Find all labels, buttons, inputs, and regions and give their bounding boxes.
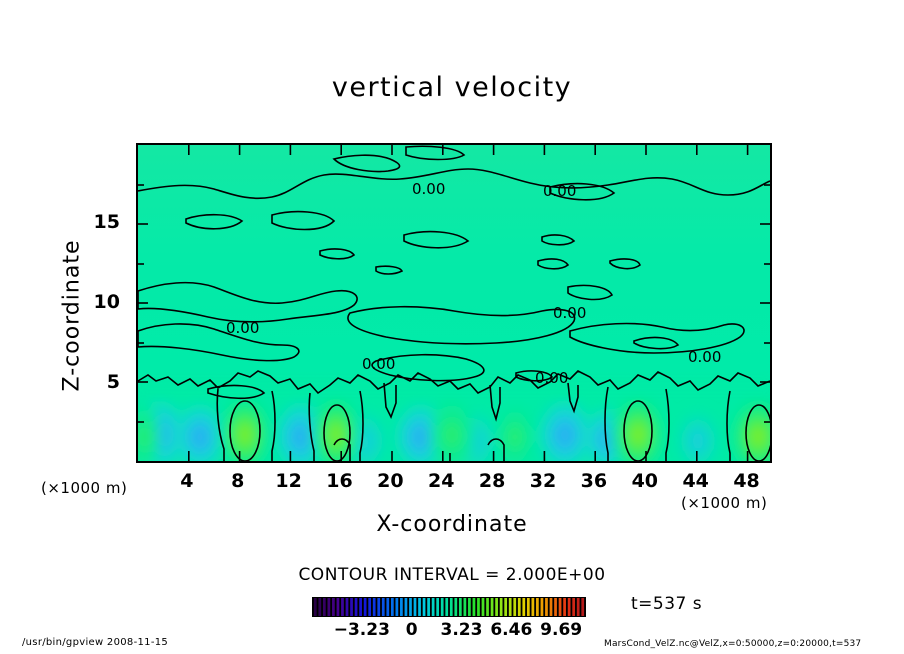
y-axis-title: Z-coordinate bbox=[60, 186, 85, 446]
colorbar-band bbox=[350, 598, 353, 616]
colorbar-band bbox=[318, 598, 321, 616]
contour-value-label: 0.00 bbox=[543, 182, 576, 200]
colorbar-band bbox=[332, 598, 335, 616]
colorbar-band bbox=[341, 598, 344, 616]
colorbar-band bbox=[536, 598, 539, 616]
figure-canvas: vertical velocity Z-coordinate X-coordin… bbox=[0, 0, 904, 654]
colorbar-band bbox=[396, 598, 399, 616]
x-tick-label: 36 bbox=[574, 470, 614, 492]
x-tick-label: 16 bbox=[320, 470, 360, 492]
colorbar-band bbox=[527, 598, 530, 616]
page-title: vertical velocity bbox=[0, 72, 904, 103]
colorbar-band bbox=[377, 598, 380, 616]
colorbar-band bbox=[522, 598, 525, 616]
y-tick-label: 15 bbox=[84, 211, 120, 233]
contour-value-label: 0.00 bbox=[226, 319, 259, 337]
colorbar-band bbox=[577, 598, 580, 616]
colorbar-band bbox=[468, 598, 471, 616]
colorbar-band bbox=[568, 598, 571, 616]
colorbar-band bbox=[545, 598, 548, 616]
colorbar-band bbox=[445, 598, 448, 616]
colorbar-band bbox=[532, 598, 535, 616]
colorbar-band bbox=[550, 598, 553, 616]
y-tick-label: 5 bbox=[84, 371, 120, 393]
colorbar-band bbox=[504, 598, 507, 616]
colorbar-band bbox=[432, 598, 435, 616]
colorbar-band bbox=[459, 598, 462, 616]
colorbar-band bbox=[464, 598, 467, 616]
y-tick-label: 10 bbox=[84, 291, 120, 313]
colorbar-band bbox=[314, 598, 317, 616]
contour-value-label: 0.00 bbox=[535, 369, 568, 387]
colorbar-band bbox=[513, 598, 516, 616]
colorbar-band bbox=[441, 598, 444, 616]
x-axis-unit-left: (×1000 m) bbox=[41, 479, 127, 497]
colorbar-band bbox=[509, 598, 512, 616]
contour-value-label: 0.00 bbox=[412, 180, 445, 198]
x-tick-label: 32 bbox=[523, 470, 563, 492]
colorbar-band bbox=[346, 598, 349, 616]
colorbar-band bbox=[500, 598, 503, 616]
colorbar-band bbox=[328, 598, 331, 616]
x-tick-label: 48 bbox=[727, 470, 767, 492]
colorbar-band bbox=[359, 598, 362, 616]
colorbar-band bbox=[518, 598, 521, 616]
colorbar-band bbox=[427, 598, 430, 616]
x-tick-label: 4 bbox=[167, 470, 207, 492]
colorbar-band bbox=[482, 598, 485, 616]
colorbar-band bbox=[436, 598, 439, 616]
colorbar-band bbox=[454, 598, 457, 616]
footer-command-label: /usr/bin/gpview 2008-11-15 bbox=[22, 637, 168, 648]
contour-plot-svg bbox=[138, 145, 770, 461]
colorbar-band bbox=[541, 598, 544, 616]
x-tick-label: 8 bbox=[218, 470, 258, 492]
x-tick-label: 12 bbox=[269, 470, 309, 492]
colorbar-band bbox=[572, 598, 575, 616]
colorbar-band bbox=[364, 598, 367, 616]
colorbar-band bbox=[386, 598, 389, 616]
time-label: t=537 s bbox=[631, 594, 702, 614]
contour-value-label: 0.00 bbox=[362, 355, 395, 373]
colorbar-band bbox=[486, 598, 489, 616]
colorbar-band bbox=[473, 598, 476, 616]
colorbar-band bbox=[563, 598, 566, 616]
x-tick-label: 28 bbox=[472, 470, 512, 492]
colorbar-band bbox=[382, 598, 385, 616]
colorbar-band bbox=[554, 598, 557, 616]
colorbar-band bbox=[450, 598, 453, 616]
colorbar-band bbox=[477, 598, 480, 616]
colorbar-band bbox=[423, 598, 426, 616]
x-tick-label: 40 bbox=[625, 470, 665, 492]
colorbar-band bbox=[373, 598, 376, 616]
footer-source-label: MarsCond_VelZ.nc@VelZ,x=0:50000,z=0:2000… bbox=[604, 639, 861, 649]
x-tick-label: 44 bbox=[676, 470, 716, 492]
colorbar-band bbox=[400, 598, 403, 616]
colorbar-band bbox=[418, 598, 421, 616]
colorbar-band bbox=[581, 598, 584, 616]
contour-plot-area bbox=[136, 143, 772, 463]
colorbar-band bbox=[391, 598, 394, 616]
contour-value-label: 0.00 bbox=[688, 348, 721, 366]
colorbar-band bbox=[323, 598, 326, 616]
x-tick-label: 20 bbox=[370, 470, 410, 492]
colorbar-band bbox=[495, 598, 498, 616]
colorbar-band bbox=[559, 598, 562, 616]
colorbar-tick-label: 9.69 bbox=[526, 620, 596, 640]
contour-interval-label: CONTOUR INTERVAL = 2.000E+00 bbox=[0, 565, 904, 585]
contour-value-label: 0.00 bbox=[553, 304, 586, 322]
colorbar-band bbox=[409, 598, 412, 616]
colorbar-band bbox=[355, 598, 358, 616]
colorbar-band bbox=[405, 598, 408, 616]
colorbar-band bbox=[337, 598, 340, 616]
colorbar-swatches bbox=[313, 598, 585, 616]
colorbar-band bbox=[414, 598, 417, 616]
colorbar-band bbox=[491, 598, 494, 616]
colorbar bbox=[312, 597, 586, 617]
colorbar-band bbox=[368, 598, 371, 616]
x-tick-label: 24 bbox=[421, 470, 461, 492]
x-axis-title: X-coordinate bbox=[0, 512, 904, 537]
x-axis-unit-right: (×1000 m) bbox=[681, 494, 767, 512]
